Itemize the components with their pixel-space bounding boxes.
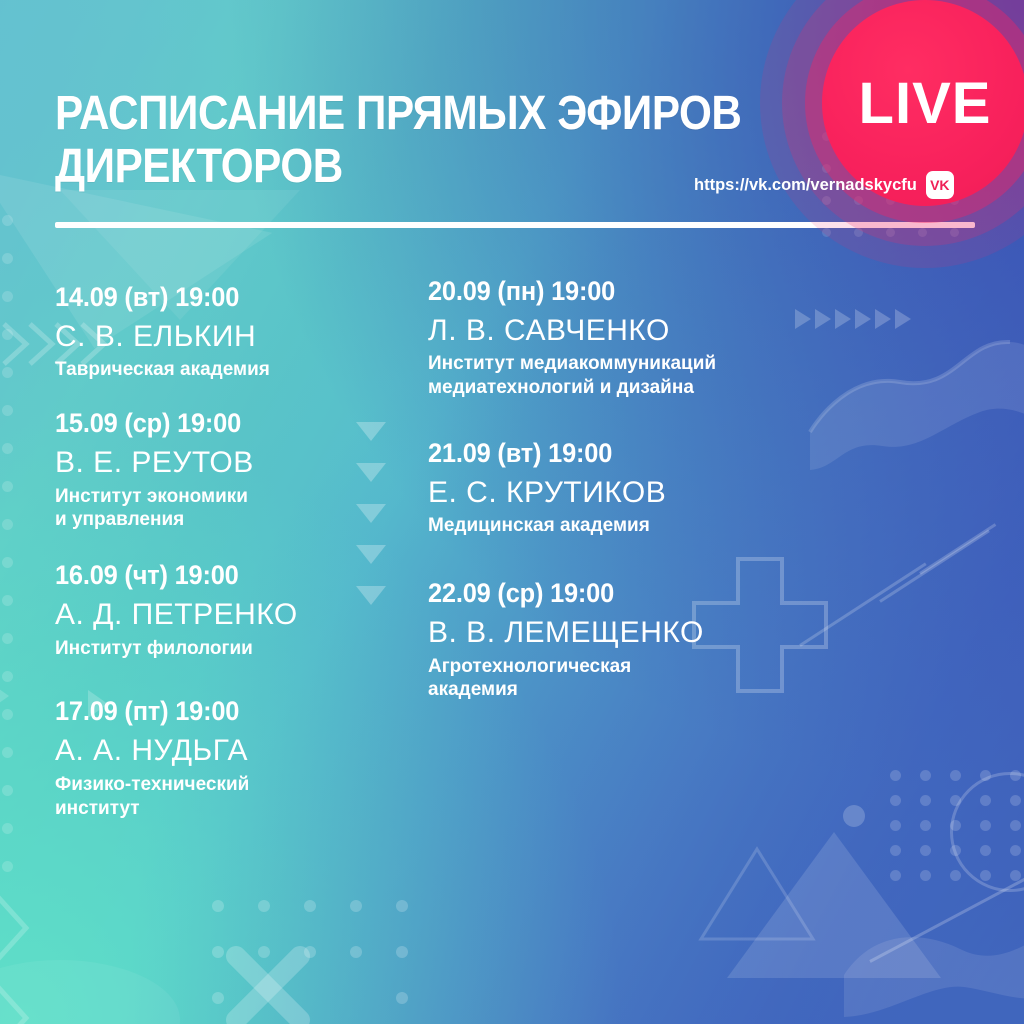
dot-column-decor — [2, 215, 13, 899]
entry-speaker: А. Д. ПЕТРЕНКО — [55, 597, 385, 634]
entry-date: 17.09 (пт) 19:00 — [55, 696, 365, 728]
entry-speaker: Е. С. КРУТИКОВ — [428, 475, 828, 512]
triangle-outline-decor — [697, 845, 817, 950]
chevron-decor-bottom-left — [0, 880, 52, 1024]
schedule-entry[interactable]: 15.09 (ср) 19:00 В. Е. РЕУТОВ Институт э… — [55, 408, 385, 532]
entry-institute: Институт филологии — [55, 637, 385, 661]
schedule-entry[interactable]: 16.09 (чт) 19:00 А. Д. ПЕТРЕНКО Институт… — [55, 560, 385, 660]
wave-ribbon-decor-bottom — [834, 905, 1024, 1024]
entry-date: 22.09 (ср) 19:00 — [428, 578, 804, 610]
vk-url-text[interactable]: https://vk.com/vernadskycfu — [694, 176, 917, 195]
blob-decor-bottom-left — [0, 960, 180, 1024]
triangle-filled-decor — [727, 832, 941, 978]
schedule-entry[interactable]: 20.09 (пн) 19:00 Л. В. САВЧЕНКО Институт… — [428, 276, 828, 400]
poster-canvas: РАСПИСАНИЕ ПРЯМЫХ ЭФИРОВ ДИРЕКТОРОВ LIVE… — [0, 0, 1024, 1024]
entry-date: 14.09 (вт) 19:00 — [55, 282, 365, 314]
entry-institute: Физико-технический институт — [55, 773, 385, 821]
entry-institute: Институт экономики и управления — [55, 485, 385, 533]
diagonal-line-decor — [869, 819, 1024, 962]
schedule-column-right: 20.09 (пн) 19:00 Л. В. САВЧЕНКО Институт… — [428, 276, 828, 702]
entry-date: 21.09 (вт) 19:00 — [428, 438, 804, 470]
schedule-entry[interactable]: 17.09 (пт) 19:00 А. А. НУДЬГА Физико-тех… — [55, 696, 385, 820]
entry-institute: Медицинская академия — [428, 514, 828, 538]
entry-speaker: В. В. ЛЕМЕЩЕНКО — [428, 615, 828, 652]
live-badge[interactable]: LIVE — [760, 0, 1024, 268]
entry-speaker: А. А. НУДЬГА — [55, 733, 385, 770]
vk-icon[interactable]: VK — [926, 171, 954, 199]
entry-institute: Агротехнологическая академия — [428, 655, 828, 703]
schedule-column-left: 14.09 (вт) 19:00 С. В. ЕЛЬКИН Таврическа… — [55, 282, 385, 820]
entry-date: 20.09 (пн) 19:00 — [428, 276, 804, 308]
entry-speaker: В. Е. РЕУТОВ — [55, 445, 385, 482]
entry-speaker: Л. В. САВЧЕНКО — [428, 313, 828, 350]
entry-date: 15.09 (ср) 19:00 — [55, 408, 365, 440]
wave-ribbon-decor — [804, 320, 1024, 485]
schedule-entry[interactable]: 14.09 (вт) 19:00 С. В. ЕЛЬКИН Таврическа… — [55, 282, 385, 382]
schedule-entry[interactable]: 22.09 (ср) 19:00 В. В. ЛЕМЕЩЕНКО Агротех… — [428, 578, 828, 702]
circle-dot-decor — [843, 805, 865, 827]
entry-speaker: С. В. ЕЛЬКИН — [55, 319, 385, 356]
vk-link-row[interactable]: https://vk.com/vernadskycfu VK — [694, 171, 954, 199]
entry-date: 16.09 (чт) 19:00 — [55, 560, 365, 592]
entry-institute: Таврическая академия — [55, 358, 385, 382]
schedule-entry[interactable]: 21.09 (вт) 19:00 Е. С. КРУТИКОВ Медицинс… — [428, 438, 828, 538]
triangle-decor-mid-left-2 — [0, 684, 9, 708]
circle-outline-decor — [950, 772, 1024, 892]
entry-institute: Институт медиакоммуникаций медиатехнолог… — [428, 352, 828, 400]
x-mark-decor — [218, 938, 318, 1024]
